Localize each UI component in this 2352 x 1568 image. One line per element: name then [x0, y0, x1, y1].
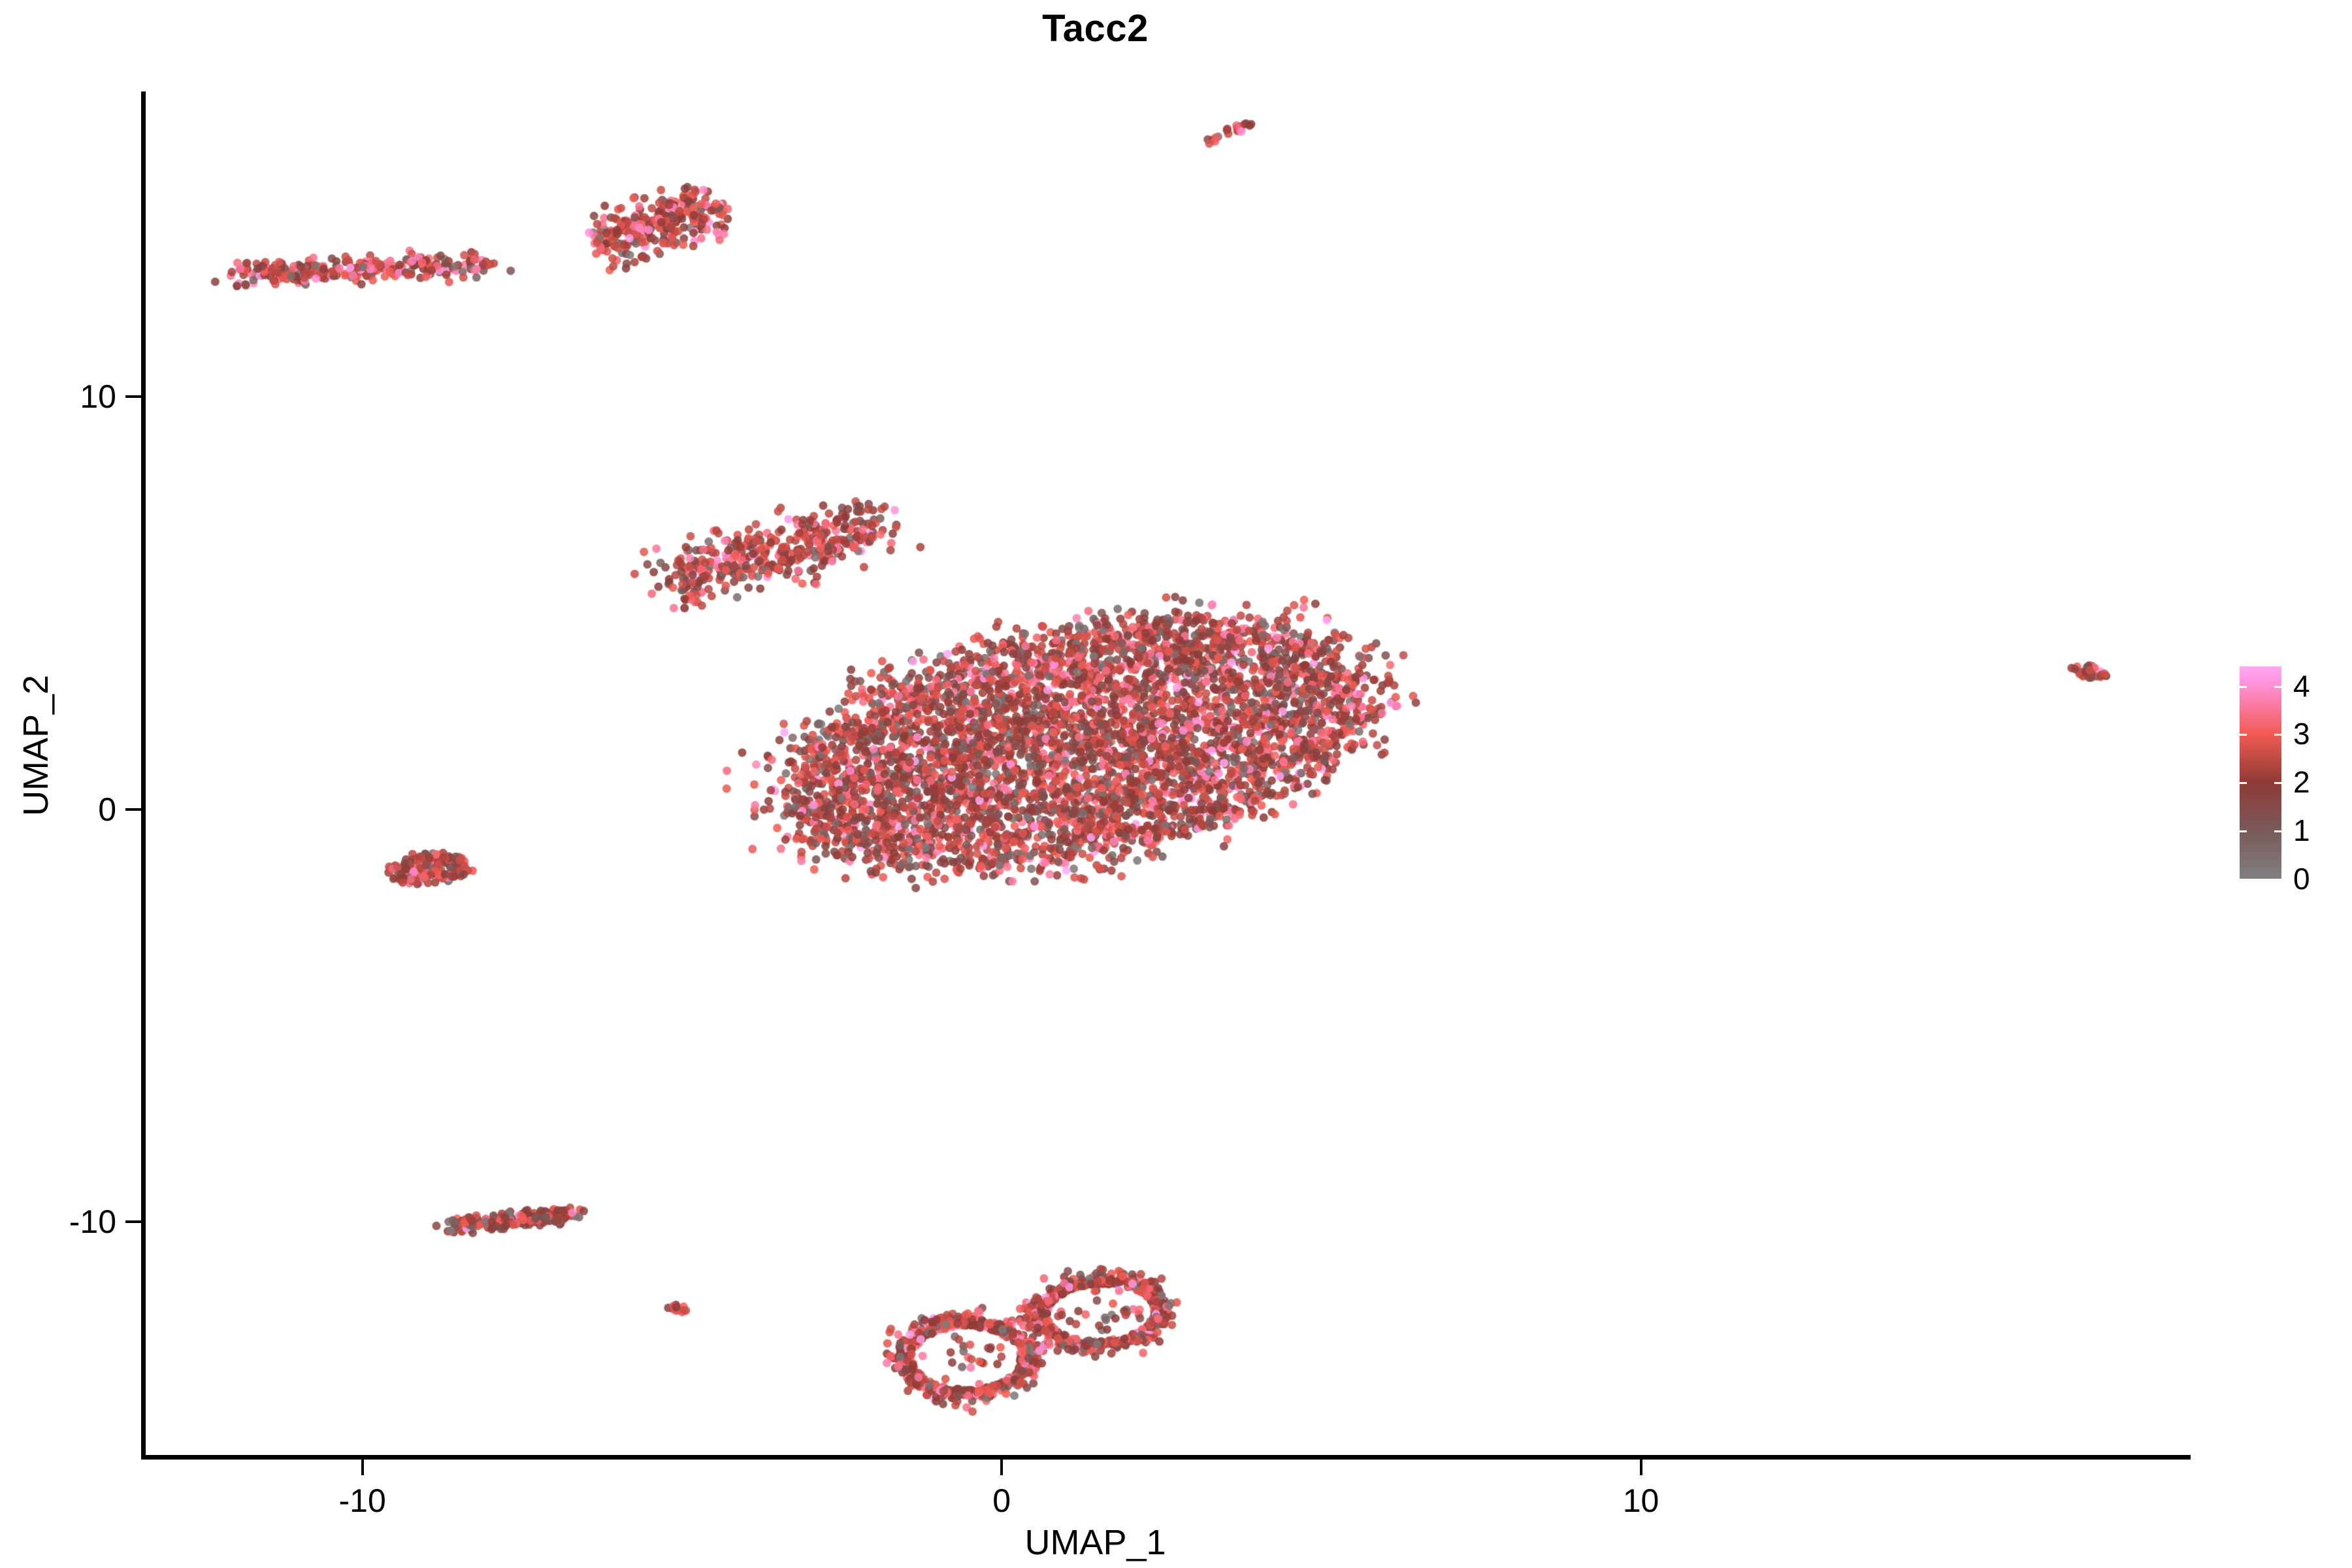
y-tick-mark	[125, 1220, 141, 1223]
x-tick-label: 0	[992, 1482, 1011, 1520]
umap-feature-plot: Tacc2 -10010 -10010 UMAP_1 UMAP_2 01234	[0, 0, 2352, 1568]
x-axis-title: UMAP_1	[0, 1522, 2191, 1563]
x-tick-mark	[1000, 1460, 1003, 1475]
y-axis-line	[141, 91, 146, 1460]
legend-tick	[2240, 879, 2247, 881]
legend-label: 2	[2293, 764, 2310, 800]
y-tick-label: -10	[69, 1203, 116, 1241]
legend-label: 1	[2293, 813, 2310, 848]
plot-panel	[145, 91, 2191, 1457]
y-tick-mark	[125, 808, 141, 811]
legend-tick	[2274, 879, 2281, 881]
x-axis-line	[141, 1455, 2191, 1460]
x-tick-label: -10	[339, 1482, 386, 1520]
color-legend: 01234	[2240, 666, 2344, 892]
x-tick-mark	[1640, 1460, 1642, 1475]
x-tick-label: 10	[1623, 1482, 1659, 1520]
legend-label: 4	[2293, 668, 2310, 704]
legend-colorbar	[2240, 666, 2281, 879]
legend-label: 3	[2293, 716, 2310, 751]
legend-label: 0	[2293, 861, 2310, 896]
x-tick-mark	[361, 1460, 364, 1475]
y-axis-title: UMAP_2	[16, 353, 56, 1137]
scatter-points-canvas	[145, 91, 2191, 1457]
y-tick-label: 10	[80, 378, 116, 416]
page-title: Tacc2	[0, 7, 2191, 50]
y-tick-label: 0	[98, 791, 116, 828]
y-tick-mark	[125, 395, 141, 398]
